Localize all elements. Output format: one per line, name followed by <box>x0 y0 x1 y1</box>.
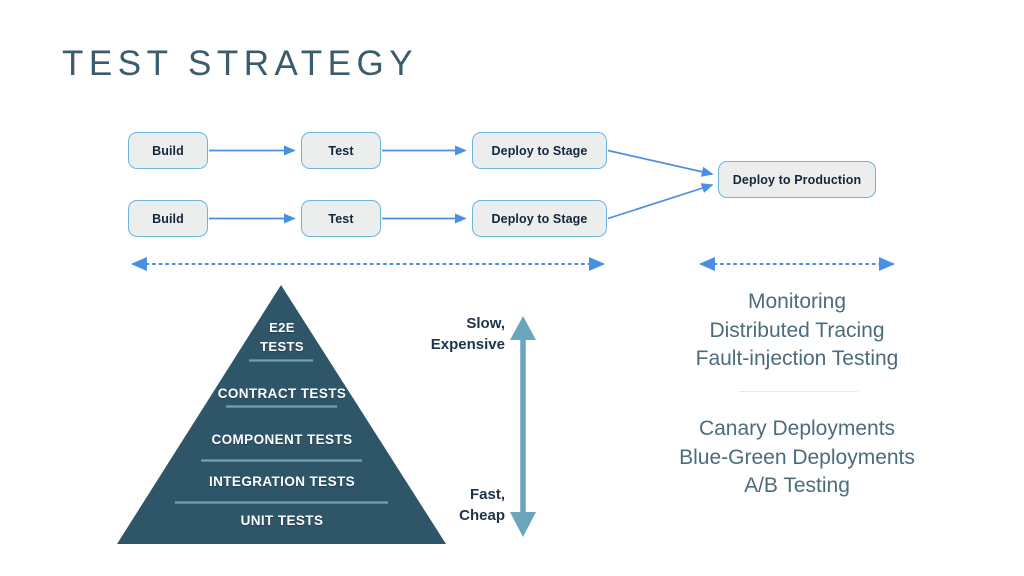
note-divider <box>740 391 858 392</box>
pipeline-stage-deploy-to-stage-1[interactable]: Deploy to Stage <box>472 132 607 169</box>
pipeline-stage-deploy-to-stage-2[interactable]: Deploy to Stage <box>472 200 607 237</box>
speed-axis-top-line2: Expensive <box>380 334 505 355</box>
pipeline-stage-build-2[interactable]: Build <box>128 200 208 237</box>
speed-cost-arrow <box>510 316 536 537</box>
pipeline-stage-build-1[interactable]: Build <box>128 132 208 169</box>
note-blue-green-deployments: Blue-Green Deployments <box>632 444 962 473</box>
speed-axis-bottom-line2: Cheap <box>380 505 505 526</box>
connector-stage2-production <box>608 185 712 219</box>
note-distributed-tracing: Distributed Tracing <box>632 317 962 346</box>
pyramid-layer-label-component-tests: COMPONENT TESTS <box>0 432 566 447</box>
note-fault-injection-testing: Fault-injection Testing <box>632 345 962 374</box>
note-monitoring: Monitoring <box>632 288 962 317</box>
speed-axis-top-label: Slow, Expensive <box>380 313 505 355</box>
slide-canvas: TEST STRATEGY Build Test Deploy to Stage… <box>0 0 1024 576</box>
page-title: TEST STRATEGY <box>62 44 418 84</box>
note-canary-deployments: Canary Deployments <box>632 415 962 444</box>
connector-stage1-production <box>608 151 712 175</box>
note-ab-testing: A/B Testing <box>632 472 962 501</box>
speed-axis-top-line1: Slow, <box>380 313 505 334</box>
speed-axis-bottom-line1: Fast, <box>380 484 505 505</box>
pipeline-stage-deploy-to-production[interactable]: Deploy to Production <box>718 161 876 198</box>
note-group-observability: Monitoring Distributed Tracing Fault-inj… <box>632 288 962 374</box>
note-group-release-strategies: Canary Deployments Blue-Green Deployment… <box>632 415 962 501</box>
speed-axis-bottom-label: Fast, Cheap <box>380 484 505 526</box>
pipeline-stage-test-1[interactable]: Test <box>301 132 381 169</box>
pyramid-layer-label-contract-tests: CONTRACT TESTS <box>0 386 566 401</box>
pipeline-stage-test-2[interactable]: Test <box>301 200 381 237</box>
